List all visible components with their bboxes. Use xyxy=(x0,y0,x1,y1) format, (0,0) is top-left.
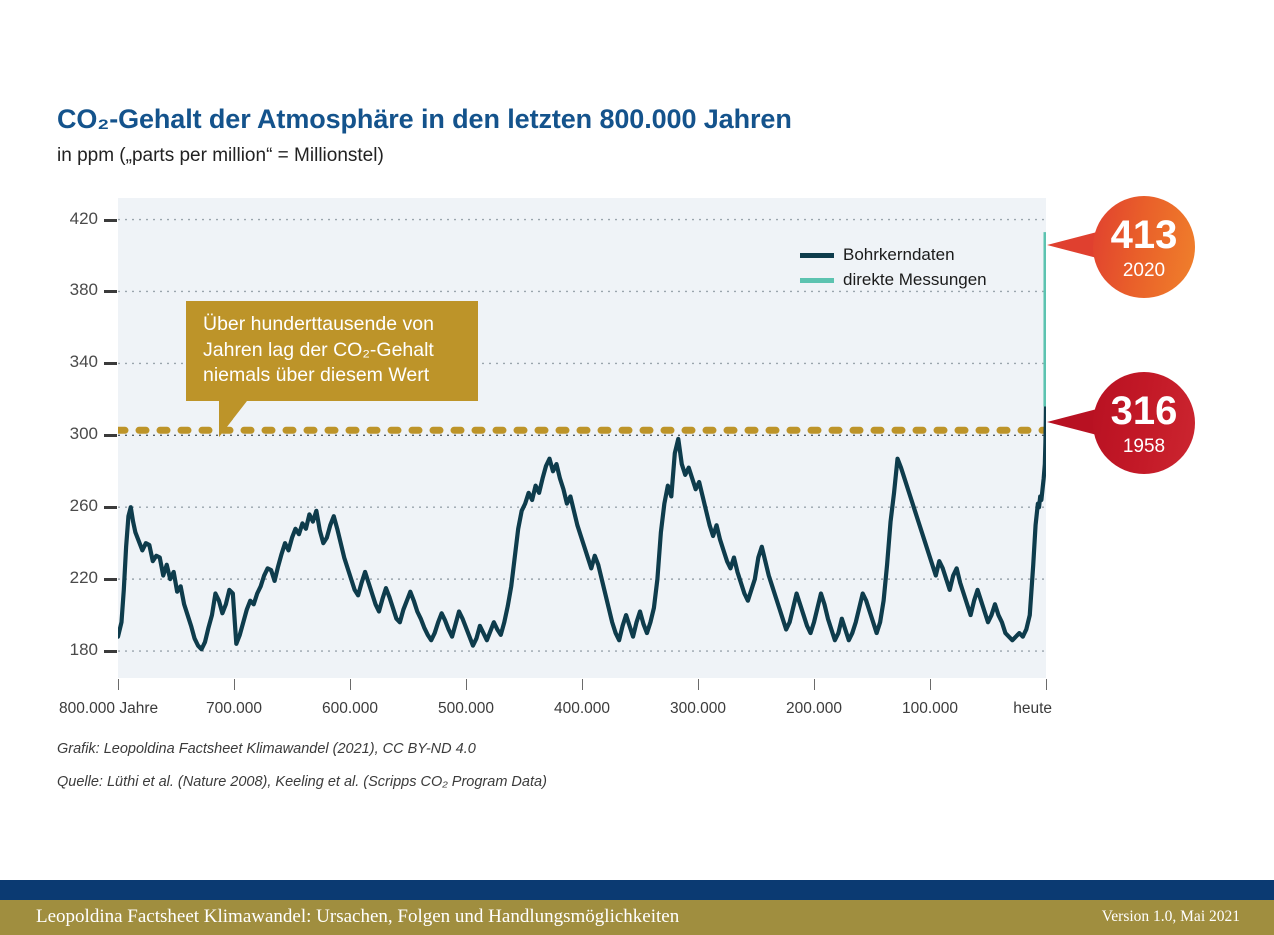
badge-value-316: 316 xyxy=(1111,391,1178,431)
status-badge-316: 316 1958 xyxy=(1093,372,1195,474)
y-axis-tick-mark xyxy=(104,650,117,653)
y-axis-tick-label: 260 xyxy=(40,496,98,516)
x-axis-tick-label: heute xyxy=(1013,700,1052,718)
x-axis-tick-label: 200.000 xyxy=(786,700,842,718)
page-subtitle: in ppm („parts per million“ = Millionste… xyxy=(57,145,384,167)
x-axis-tick-mark xyxy=(814,679,815,690)
annotation-callout: Über hunderttausende von Jahren lag der … xyxy=(186,301,478,401)
legend-swatch-bohrkerndaten xyxy=(800,253,834,258)
badge-year-1958: 1958 xyxy=(1123,437,1165,456)
page-title: CO₂-Gehalt der Atmosphäre in den letzten… xyxy=(57,104,792,135)
badge-value-413: 413 xyxy=(1111,215,1178,255)
y-axis-tick-mark xyxy=(104,578,117,581)
legend-swatch-direkte-messungen xyxy=(800,278,834,283)
x-axis-tick-label: 700.000 xyxy=(206,700,262,718)
x-axis-tick-label: 100.000 xyxy=(902,700,958,718)
chart-legend: Bohrkerndaten direkte Messungen xyxy=(800,245,987,295)
badge-pointer-316 xyxy=(1047,409,1097,435)
legend-item-bohrkerndaten: Bohrkerndaten xyxy=(800,245,987,265)
y-axis-tick-label: 420 xyxy=(40,209,98,229)
x-axis-tick-mark xyxy=(234,679,235,690)
x-axis-tick-mark xyxy=(350,679,351,690)
x-axis-tick-label: 600.000 xyxy=(322,700,378,718)
y-axis-tick-mark xyxy=(104,290,117,293)
badge-year-2020: 2020 xyxy=(1123,261,1165,280)
x-axis-tick-mark xyxy=(582,679,583,690)
x-axis-tick-mark xyxy=(930,679,931,690)
x-axis-tick-label: 300.000 xyxy=(670,700,726,718)
y-axis-tick-mark xyxy=(104,362,117,365)
y-axis-tick-mark xyxy=(104,506,117,509)
x-axis-tick-label: 400.000 xyxy=(554,700,610,718)
x-axis-tick-label: 500.000 xyxy=(438,700,494,718)
y-axis-tick-label: 300 xyxy=(40,424,98,444)
legend-label-bohrkerndaten: Bohrkerndaten xyxy=(843,245,955,265)
y-axis-tick-label: 220 xyxy=(40,568,98,588)
footer-document-title: Leopoldina Factsheet Klimawandel: Ursach… xyxy=(36,906,679,928)
legend-label-direkte-messungen: direkte Messungen xyxy=(843,270,987,290)
x-axis-tick-label: 800.000 Jahre xyxy=(59,700,158,718)
footer-navy-bar xyxy=(0,880,1274,900)
legend-item-direkte-messungen: direkte Messungen xyxy=(800,270,987,290)
credit-grafik: Grafik: Leopoldina Factsheet Klimawandel… xyxy=(57,741,476,757)
y-axis-tick-label: 380 xyxy=(40,280,98,300)
series-bohrkerndaten xyxy=(118,407,1046,650)
x-axis-tick-mark xyxy=(698,679,699,690)
y-axis-tick-label: 180 xyxy=(40,640,98,660)
status-badge-413: 413 2020 xyxy=(1093,196,1195,298)
footer-version: Version 1.0, Mai 2021 xyxy=(1102,908,1240,926)
y-axis-tick-mark xyxy=(104,434,117,437)
badge-pointer-413 xyxy=(1047,232,1097,258)
credit-quelle: Quelle: Lüthi et al. (Nature 2008), Keel… xyxy=(57,774,547,790)
x-axis-tick-mark xyxy=(1046,679,1047,690)
x-axis-tick-mark xyxy=(118,679,119,690)
y-axis-tick-label: 340 xyxy=(40,352,98,372)
annotation-callout-text: Über hunderttausende von Jahren lag der … xyxy=(203,312,463,389)
x-axis-tick-mark xyxy=(466,679,467,690)
y-axis-tick-mark xyxy=(104,219,117,222)
